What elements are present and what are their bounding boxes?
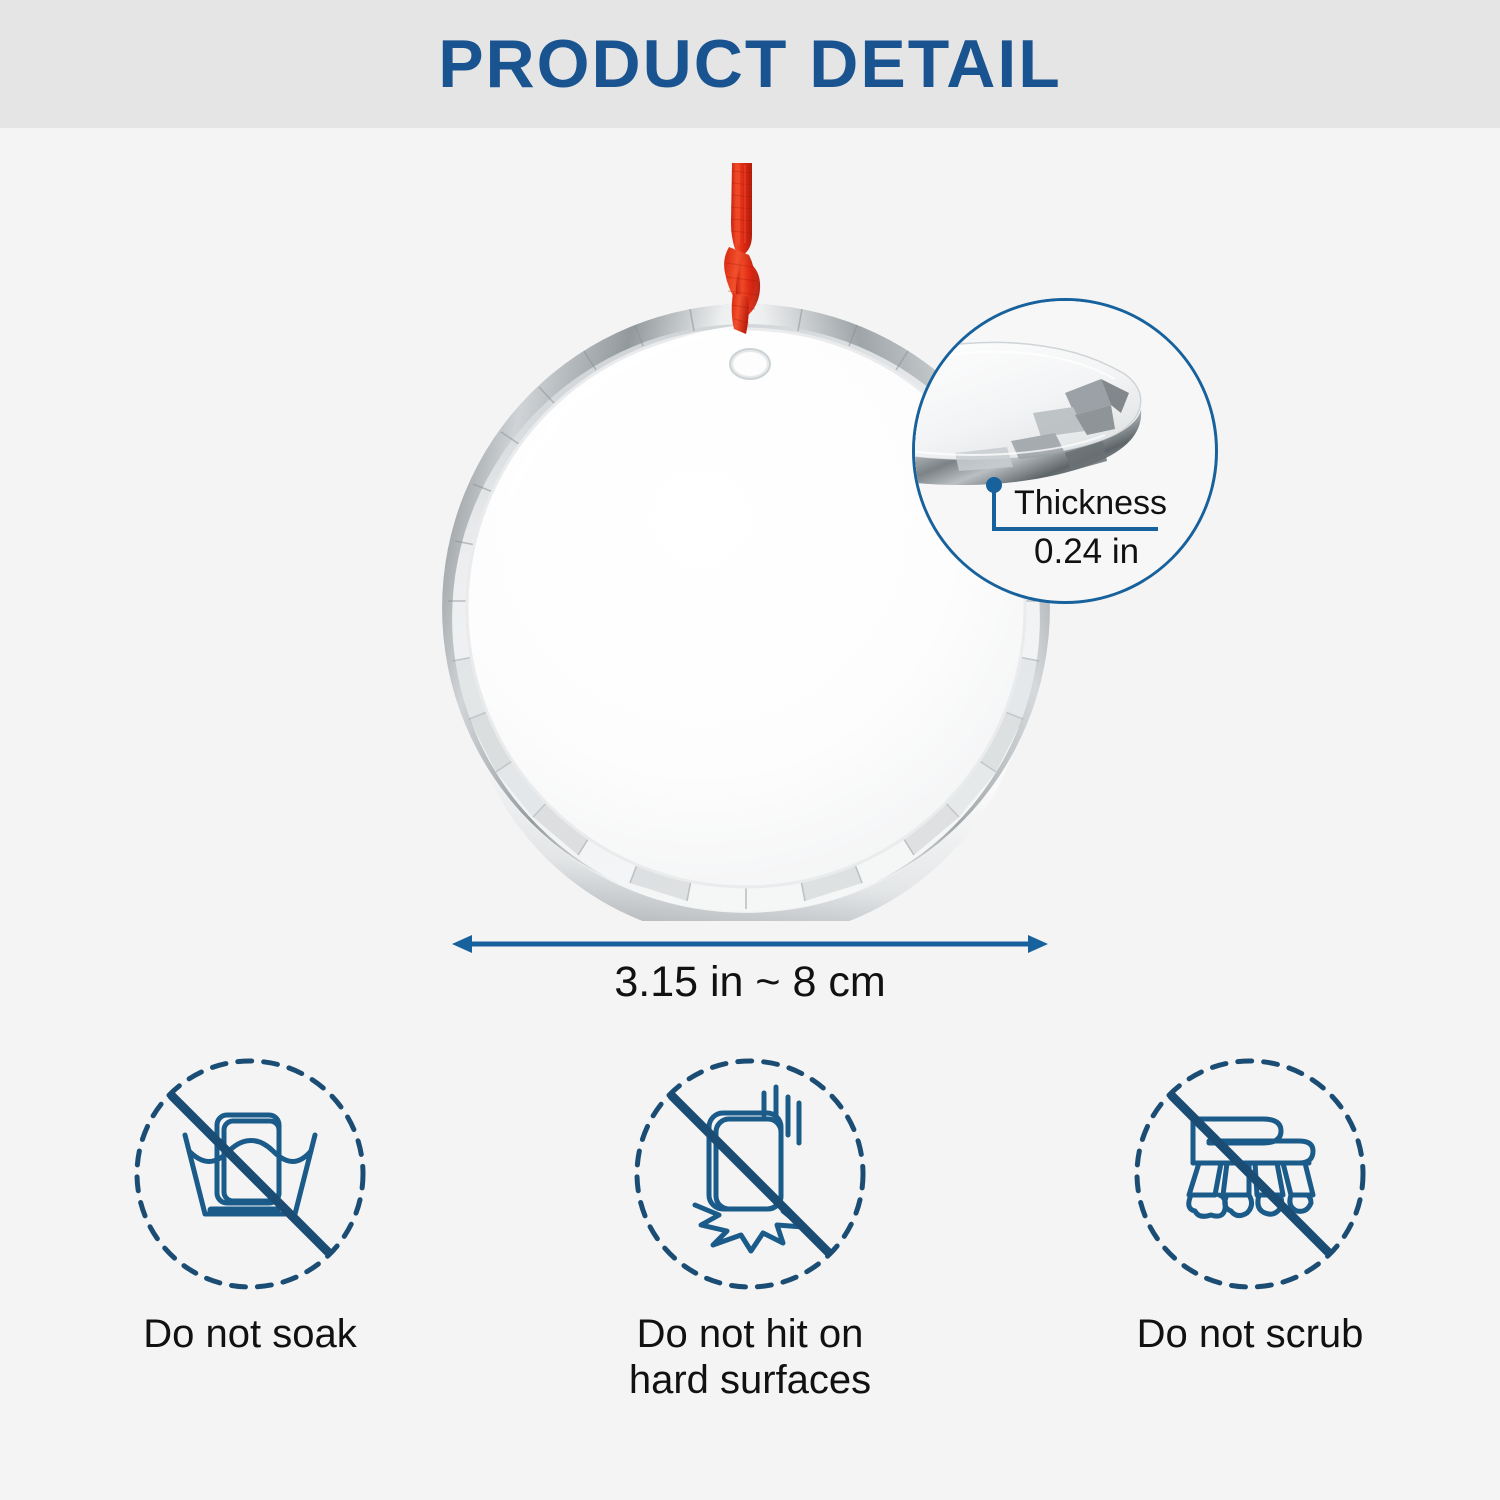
width-dimension-text: 3.15 in ~ 8 cm — [614, 958, 885, 1006]
no-scrub-icon — [1131, 1055, 1369, 1293]
width-dimension-arrow — [452, 935, 1048, 953]
care-item-no-impact: Do not hit on hard surfaces — [500, 1055, 1000, 1475]
arrow-head-left — [452, 935, 472, 953]
care-item-no-scrub: Do not scrub — [1000, 1055, 1500, 1475]
width-dimension-label: 3.15 in ~ 8 cm — [0, 958, 1500, 1007]
care-label-no-scrub: Do not scrub — [1137, 1311, 1364, 1357]
no-impact-icon — [631, 1055, 869, 1293]
page-title: PRODUCT DETAIL — [0, 14, 1500, 114]
care-instructions-row: Do not soak — [0, 1055, 1500, 1475]
care-label-no-impact: Do not hit on hard surfaces — [629, 1311, 871, 1404]
thickness-label: Thickness — [1014, 484, 1167, 523]
care-item-no-soak: Do not soak — [0, 1055, 500, 1475]
arrow-head-right — [1028, 935, 1048, 953]
care-label-no-soak: Do not soak — [143, 1311, 356, 1357]
thickness-value: 0.24 in — [1034, 532, 1139, 572]
product-detail-page: PRODUCT DETAIL — [0, 0, 1500, 1500]
thickness-callout: Thickness 0.24 in — [912, 298, 1214, 600]
red-ribbon — [719, 163, 765, 338]
no-soak-icon — [131, 1055, 369, 1293]
